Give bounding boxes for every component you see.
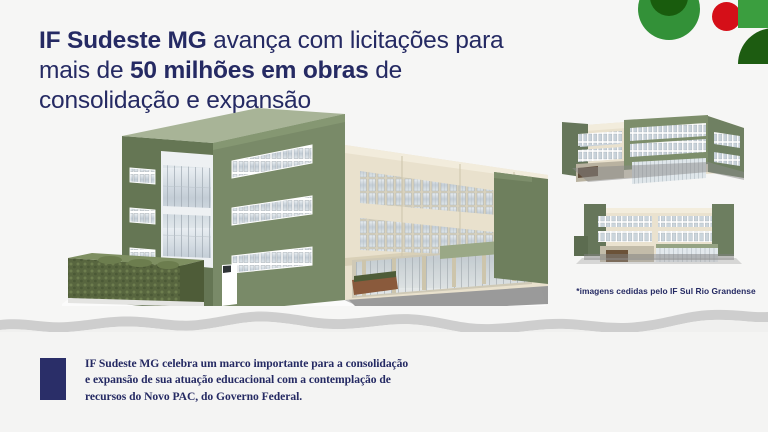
headline-bold-2: 50 milhões em obras [130,57,369,84]
red-circle-icon [712,2,741,31]
thumbnail-building-front [556,192,756,284]
thumbnail-building-angular [558,106,754,192]
hero-building-render [62,108,548,313]
poster-canvas: IF Sudeste MG avança com licitações para… [0,0,768,432]
footer-description: IF Sudeste MG celebra um marco important… [85,356,510,405]
dark-green-quarter-circle-icon [738,28,768,64]
green-square-icon [738,0,768,28]
footer-accent-bar [40,358,66,400]
headline-bold-1: IF Sudeste MG [39,27,207,54]
footer-line-1: IF Sudeste MG celebra um marco important… [85,356,510,372]
footer-line-2: e expansão de sua atuação educacional co… [85,372,510,388]
decorative-shapes-group [628,0,768,62]
image-credit-note: *imagens cedidas pelo IF Sul Rio Granden… [566,286,766,296]
page-title: IF Sudeste MG avança com licitações para… [39,26,539,116]
footer-line-3: recursos do Novo PAC, do Governo Federal… [85,389,510,405]
footer-band: IF Sudeste MG celebra um marco important… [0,332,768,432]
